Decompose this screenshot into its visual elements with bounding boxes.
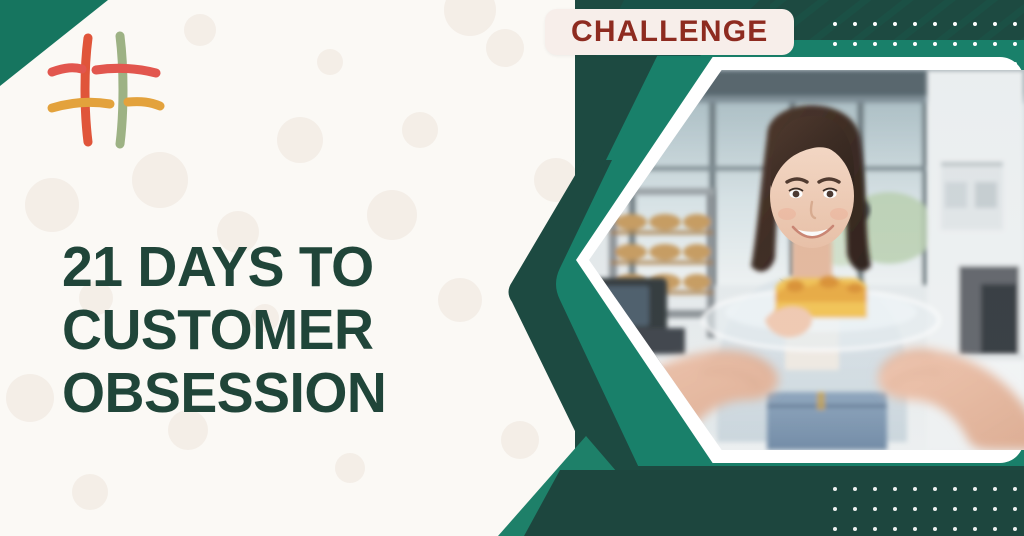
grid-dot — [893, 507, 897, 511]
grid-dot — [953, 22, 957, 26]
grid-dot — [993, 22, 997, 26]
grid-dot — [993, 507, 997, 511]
grid-dot — [913, 487, 917, 491]
grid-dot — [853, 487, 857, 491]
grid-dot — [953, 527, 957, 531]
grid-dot — [953, 42, 957, 46]
grid-dot — [853, 22, 857, 26]
grid-dot — [913, 22, 917, 26]
grid-dot — [1013, 527, 1017, 531]
grid-dot — [853, 527, 857, 531]
grid-dot — [953, 507, 957, 511]
grid-dot — [913, 527, 917, 531]
grid-dot — [933, 507, 937, 511]
grid-dot — [1013, 42, 1017, 46]
grid-dot — [973, 487, 977, 491]
headline-line-3: OBSESSION — [62, 362, 518, 425]
hash-mark-logo — [44, 28, 170, 152]
headline-line-2: CUSTOMER — [62, 299, 518, 362]
grid-dot — [873, 22, 877, 26]
challenge-badge: CHALLENGE — [545, 9, 794, 55]
grid-dot — [933, 22, 937, 26]
grid-dot — [913, 42, 917, 46]
grid-dot — [833, 527, 837, 531]
grid-dot — [973, 42, 977, 46]
grid-dot — [833, 487, 837, 491]
grid-dot — [853, 507, 857, 511]
grid-dot — [873, 42, 877, 46]
grid-dot — [893, 22, 897, 26]
grid-dot — [873, 487, 877, 491]
grid-dot — [933, 527, 937, 531]
grid-dot — [993, 487, 997, 491]
grid-dot — [913, 507, 917, 511]
headline-line-1: 21 DAYS TO — [62, 236, 518, 299]
grid-dot — [993, 527, 997, 531]
grid-dot — [873, 507, 877, 511]
grid-dot — [833, 507, 837, 511]
grid-dot — [1013, 22, 1017, 26]
dot-grid-bottom — [833, 487, 1015, 536]
grid-dot — [973, 22, 977, 26]
grid-dot — [853, 42, 857, 46]
grid-dot — [973, 527, 977, 531]
page-title: 21 DAYS TO CUSTOMER OBSESSION — [62, 236, 532, 425]
grid-dot — [1013, 507, 1017, 511]
photo-frame — [576, 57, 1024, 463]
grid-dot — [933, 42, 937, 46]
bakery-customer-photo — [589, 70, 1024, 450]
grid-dot — [833, 42, 837, 46]
challenge-banner: CHALLENGE 21 DAYS TO CUSTOMER OBSESSION — [0, 0, 1024, 536]
grid-dot — [1013, 487, 1017, 491]
grid-dot — [893, 527, 897, 531]
grid-dot — [833, 22, 837, 26]
grid-dot — [933, 487, 937, 491]
challenge-badge-label: CHALLENGE — [571, 17, 768, 47]
grid-dot — [893, 487, 897, 491]
grid-dot — [993, 42, 997, 46]
photo-clip — [589, 70, 1024, 450]
grid-dot — [973, 507, 977, 511]
grid-dot — [953, 487, 957, 491]
grid-dot — [873, 527, 877, 531]
grid-dot — [893, 42, 897, 46]
